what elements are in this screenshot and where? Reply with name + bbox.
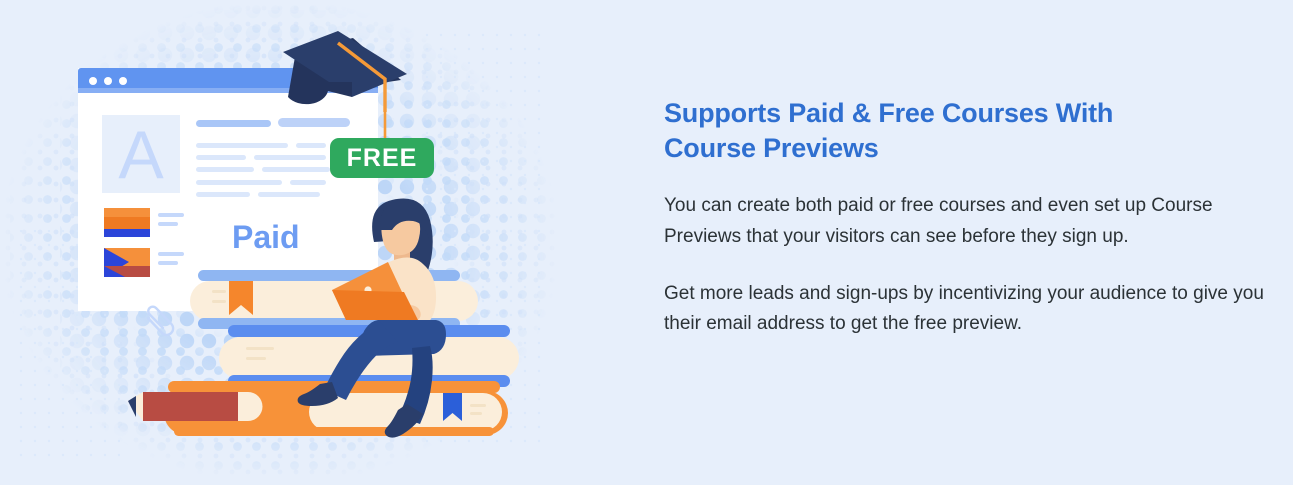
- illustration-container: A: [0, 0, 560, 485]
- laptop-base: [332, 290, 418, 320]
- free-badge: FREE: [330, 138, 434, 178]
- placeholder-heading-bar: [278, 118, 350, 127]
- online-course-illustration: A: [0, 0, 560, 485]
- browser-dot-icon: [89, 77, 97, 85]
- pencil-icon: [128, 392, 263, 421]
- placeholder-heading-bar: [196, 120, 271, 127]
- book-bottom-cover-bottom: [174, 427, 494, 436]
- free-badge-label: FREE: [347, 144, 418, 172]
- page-title: Supports Paid & Free Courses With Course…: [664, 96, 1194, 165]
- letter-tile-label: A: [118, 117, 164, 193]
- pencil-body: [143, 392, 238, 421]
- feature-section: A: [0, 0, 1293, 485]
- paid-label: Paid: [232, 219, 300, 255]
- feature-text-column: Supports Paid & Free Courses With Course…: [560, 0, 1293, 340]
- browser-dot-icon: [119, 77, 127, 85]
- browser-dot-icon: [104, 77, 112, 85]
- feature-paragraph-1: You can create both paid or free courses…: [664, 191, 1273, 253]
- feature-paragraph-2: Get more leads and sign-ups by incentivi…: [664, 279, 1273, 341]
